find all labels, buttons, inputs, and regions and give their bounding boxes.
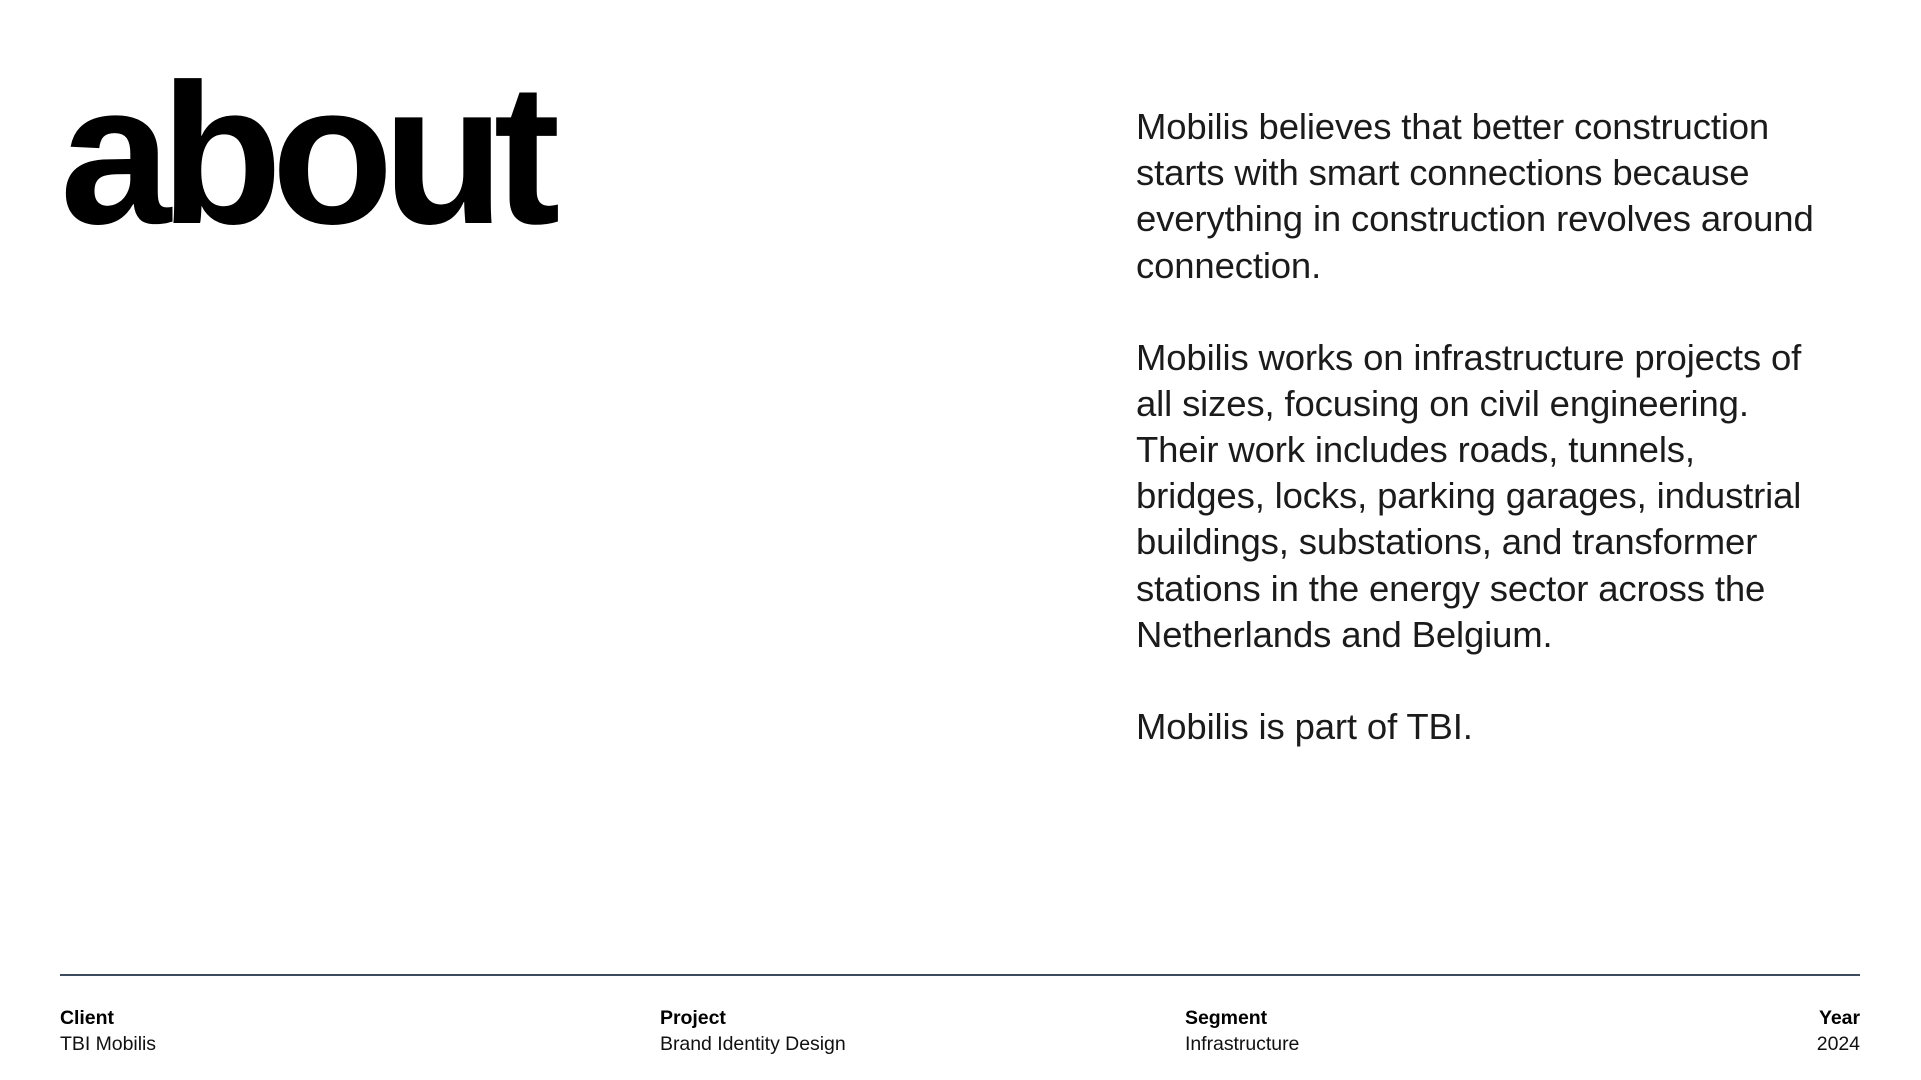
footer-divider	[60, 974, 1860, 976]
about-paragraph-1: Mobilis believes that better constructio…	[1136, 104, 1826, 289]
about-text-column: Mobilis believes that better constructio…	[1136, 104, 1826, 750]
page-title: about	[60, 62, 880, 248]
about-paragraph-3: Mobilis is part of TBI.	[1136, 704, 1826, 750]
meta-project-label: Project	[660, 1006, 1185, 1032]
heading-area: about	[60, 62, 880, 248]
about-paragraph-2: Mobilis works on infrastructure projects…	[1136, 335, 1826, 658]
meta-client-value: TBI Mobilis	[60, 1032, 660, 1058]
meta-year-label: Year	[1745, 1006, 1860, 1032]
meta-year: Year 2024	[1745, 1006, 1860, 1058]
meta-year-value: 2024	[1745, 1032, 1860, 1058]
about-slide: about Mobilis believes that better const…	[0, 0, 1921, 1080]
meta-client-label: Client	[60, 1006, 660, 1032]
meta-client: Client TBI Mobilis	[60, 1006, 660, 1058]
meta-project-value: Brand Identity Design	[660, 1032, 1185, 1058]
meta-project: Project Brand Identity Design	[660, 1006, 1185, 1058]
meta-segment-value: Infrastructure	[1185, 1032, 1745, 1058]
footer-metadata: Client TBI Mobilis Project Brand Identit…	[60, 1006, 1860, 1058]
meta-segment-label: Segment	[1185, 1006, 1745, 1032]
meta-segment: Segment Infrastructure	[1185, 1006, 1745, 1058]
